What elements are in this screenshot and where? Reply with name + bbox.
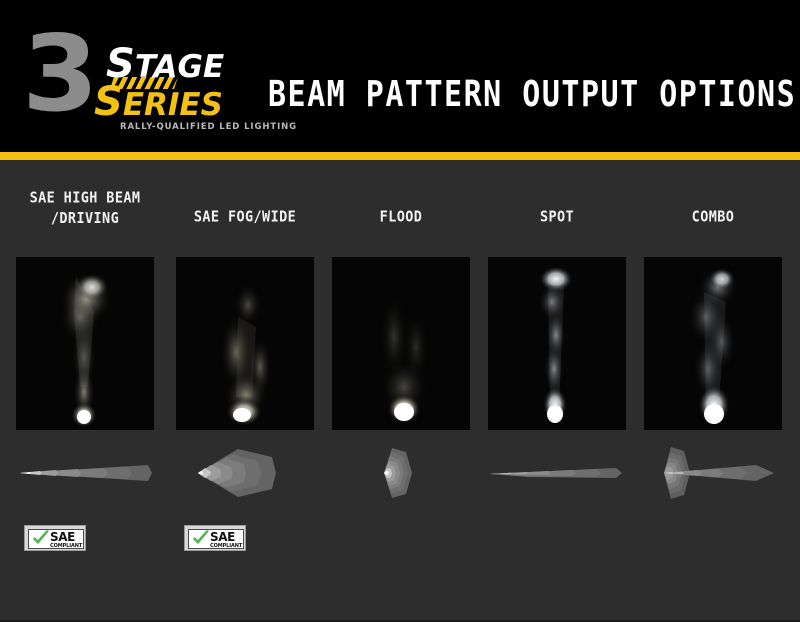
sae-badge-inner: SAE COMPLIANT [188,529,244,549]
column-spot: SPOT [488,160,626,620]
green-check-icon [191,530,211,549]
header-bar: 3 STAGE SERIES RALLY-QUALIFIED LED LIGHT… [0,0,800,152]
beam-photo-spot [488,257,626,430]
beam-diagram-flood [332,443,470,503]
logo-word-series: SERIES [94,82,223,122]
beam-pattern-grid: SAE HIGH BEAM /DRIVING [0,160,800,620]
logo-wordmark: STAGE SERIES RALLY-QUALIFIED LED LIGHTIN… [94,44,264,134]
sae-badge-sub: COMPLIANT [50,543,85,549]
beam-diagram-spot [488,443,626,503]
beam-photo-sae-high-beam-driving [16,257,154,430]
sae-compliant-badge: SAE COMPLIANT [184,525,246,551]
column-sae-high-beam-driving: SAE HIGH BEAM /DRIVING [16,160,154,620]
beam-diagram-sae-fog-wide [176,443,314,503]
column-label: SPOT [488,207,626,228]
column-label-line1: SAE FOG/WIDE [176,207,314,228]
beam-diagram-combo [644,443,782,503]
sae-compliant-badge: SAE COMPLIANT [24,525,86,551]
column-label: FLOOD [332,207,470,228]
logo-word-stage: STAGE [106,44,224,84]
column-label: COMBO [644,207,782,228]
sae-badge-main: SAE [210,531,245,543]
sae-badge-main: SAE [50,531,85,543]
yellow-divider [0,152,800,160]
logo-tagline: RALLY-QUALIFIED LED LIGHTING [120,122,297,132]
beam-photo-flood [332,257,470,430]
page-title: BEAM PATTERN OUTPUT OPTIONS [268,74,796,115]
stage-series-logo: 3 STAGE SERIES RALLY-QUALIFIED LED LIGHT… [22,30,257,130]
column-label: SAE HIGH BEAM /DRIVING [16,188,154,230]
beam-diagram-sae-high-beam-driving [16,443,154,503]
beam-pattern-chart-page: 3 STAGE SERIES RALLY-QUALIFIED LED LIGHT… [0,0,800,622]
column-label-line1: FLOOD [332,207,470,228]
sae-badge-sub: COMPLIANT [210,543,245,549]
column-label-line1: SPOT [488,207,626,228]
column-combo: COMBO [644,160,782,620]
green-check-icon [31,530,51,549]
sae-badge-text: SAE COMPLIANT [210,531,245,549]
sae-badge-inner: SAE COMPLIANT [28,529,84,549]
column-label-line2: /DRIVING [16,209,154,230]
beam-photo-sae-fog-wide [176,257,314,430]
column-sae-fog-wide: SAE FOG/WIDE [176,160,314,620]
column-label-line1: SAE HIGH BEAM [16,188,154,209]
beam-photo-combo [644,257,782,430]
sae-badge-text: SAE COMPLIANT [50,531,85,549]
column-flood: FLOOD [332,160,470,620]
column-label-line1: COMBO [644,207,782,228]
column-label: SAE FOG/WIDE [176,207,314,228]
